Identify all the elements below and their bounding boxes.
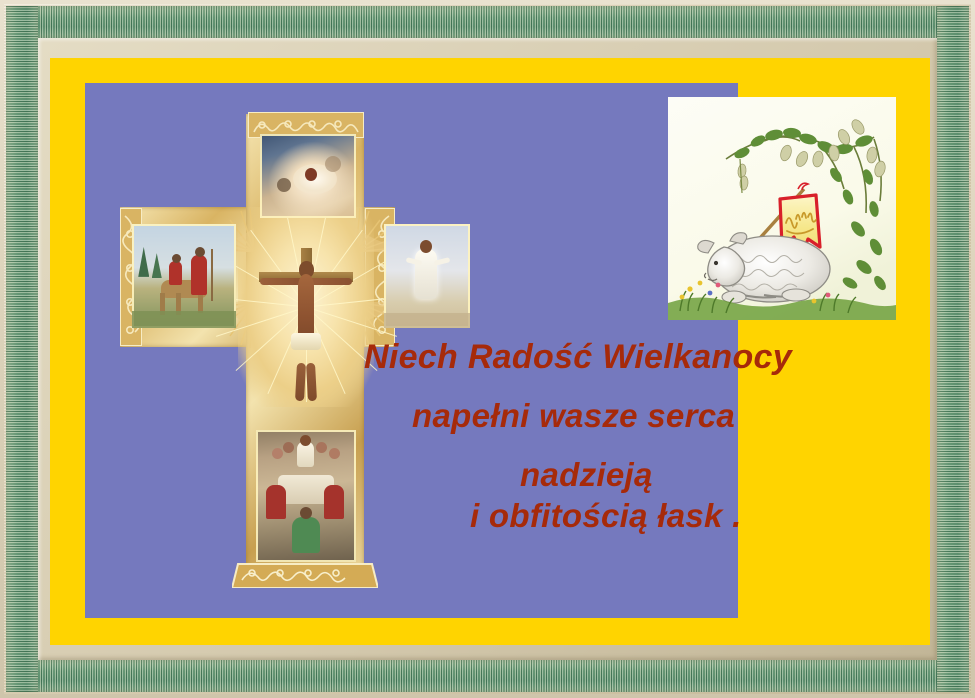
frame-band-top bbox=[6, 6, 969, 38]
greeting-text: Niech Radość Wielkanocy napełni wasze se… bbox=[360, 340, 940, 532]
easter-lamb-picture bbox=[668, 97, 896, 320]
greeting-line-2: napełni wasze serca bbox=[412, 399, 940, 432]
easter-card: Niech Radość Wielkanocy napełni wasze se… bbox=[0, 0, 975, 698]
gold-scroll-base bbox=[232, 560, 378, 588]
frame-band-left bbox=[6, 6, 38, 692]
frame-band-bottom bbox=[6, 660, 969, 692]
greeting-line-4: i obfitością łask . bbox=[470, 499, 940, 532]
frame-band-right bbox=[937, 6, 969, 692]
crucifix-artwork bbox=[110, 112, 395, 587]
scene-flight-into-egypt bbox=[132, 224, 236, 328]
scene-resurrection bbox=[260, 134, 356, 218]
greeting-line-1: Niech Radość Wielkanocy bbox=[364, 340, 940, 374]
scene-last-supper bbox=[256, 430, 356, 562]
greeting-line-3: nadzieją bbox=[520, 458, 940, 491]
crucifixion-corpus bbox=[238, 222, 374, 407]
lamb-eye bbox=[714, 261, 718, 265]
scene-risen-christ bbox=[384, 224, 470, 328]
lamb-illustration bbox=[668, 97, 896, 320]
